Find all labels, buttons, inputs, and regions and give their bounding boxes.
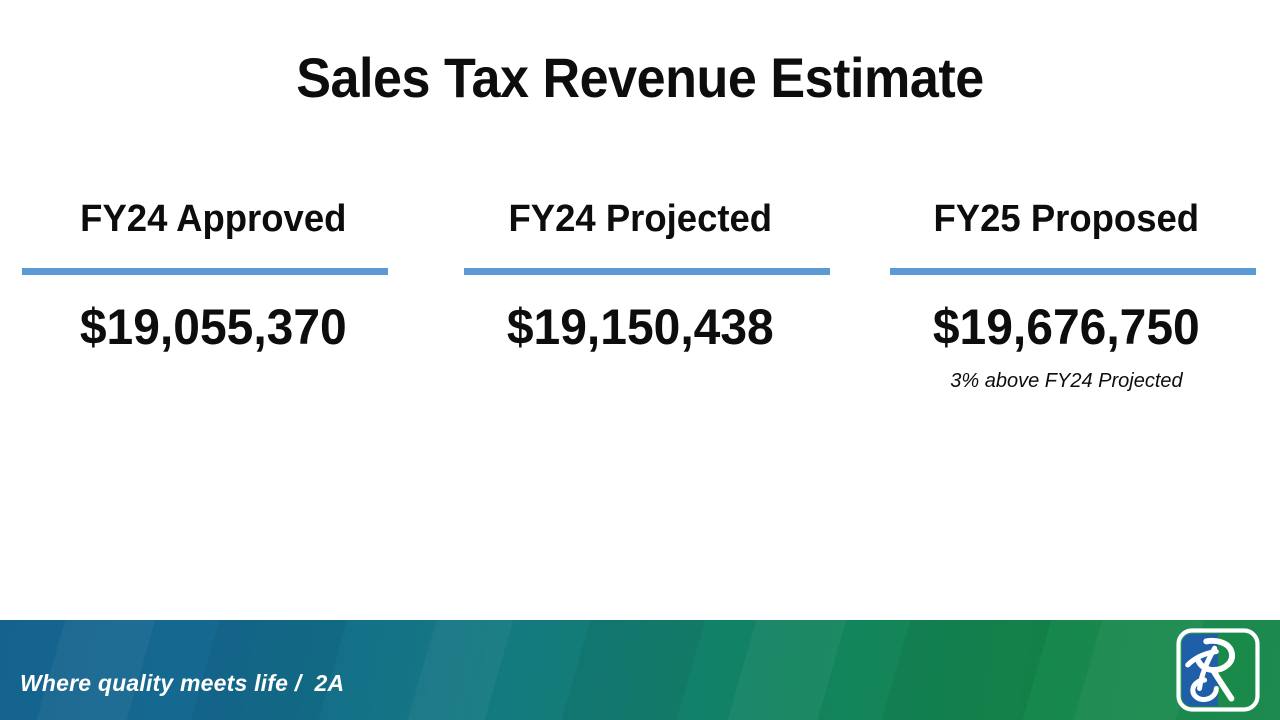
column-accent-rule <box>464 268 830 275</box>
column-value: $19,676,750 <box>862 299 1272 355</box>
column-header: FY24 Approved <box>9 198 419 242</box>
facet-shape <box>399 620 522 720</box>
column-accent-rule <box>22 268 388 275</box>
column-value: $19,055,370 <box>9 299 419 355</box>
slide-canvas: Sales Tax Revenue Estimate FY24 Approved… <box>0 0 1280 720</box>
slide-footer-band: Where quality meets life / 2A <box>0 620 1280 720</box>
column-accent-rule <box>890 268 1256 275</box>
column-value: $19,150,438 <box>435 299 845 355</box>
column-note: 3% above FY24 Projected <box>853 369 1280 393</box>
facet-shape <box>873 620 1060 720</box>
page-title: Sales Tax Revenue Estimate <box>45 48 1235 108</box>
column-fy24-projected: FY24 Projected $19,150,438 <box>427 198 854 355</box>
comparison-columns: FY24 Approved $19,055,370 FY24 Projected… <box>0 198 1280 393</box>
column-fy25-proposed: FY25 Proposed $19,676,750 3% above FY24 … <box>853 198 1280 393</box>
facet-shape <box>553 620 714 720</box>
column-fy24-approved: FY24 Approved $19,055,370 <box>0 198 427 355</box>
column-header: FY25 Proposed <box>862 198 1272 242</box>
facet-shape <box>719 620 854 720</box>
footer-tagline: Where quality meets life / 2A <box>20 670 344 697</box>
organization-logo-icon <box>1176 628 1260 712</box>
column-header: FY24 Projected <box>435 198 845 242</box>
